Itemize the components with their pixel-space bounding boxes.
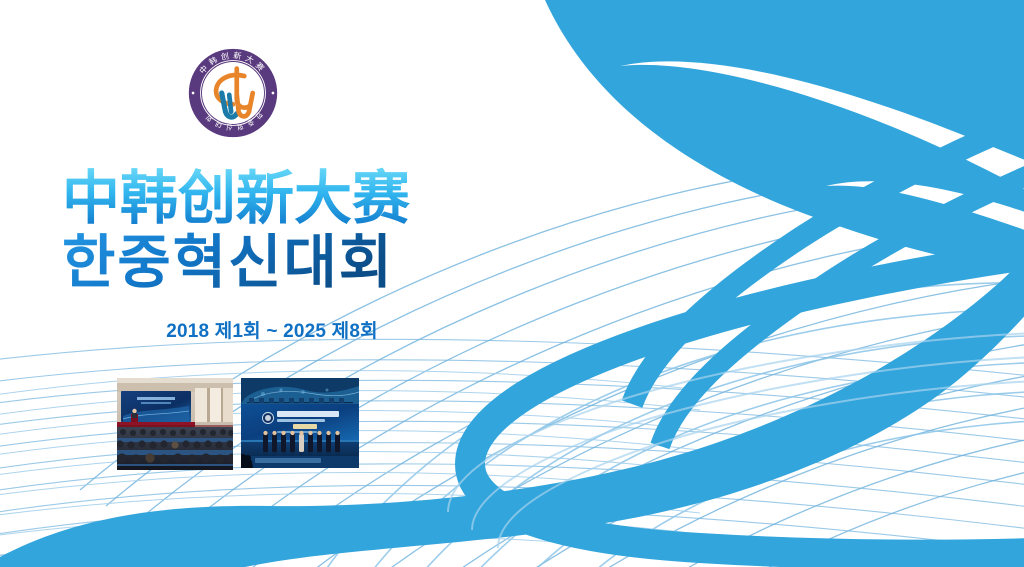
title-slide: 中韩创新大赛 한중혁신대회 中韩创 — [0, 0, 1024, 567]
organization-logo: 中韩创新大赛 한중혁신대회 — [186, 46, 280, 140]
title-chinese: 中韩创新大赛 — [62, 166, 482, 228]
photo-ceremony — [241, 378, 359, 468]
photo-conference — [117, 378, 233, 470]
title-korean: 한중혁신대회 — [62, 228, 482, 294]
title-korean-text: 한중혁신대회 — [62, 228, 394, 294]
edition-range-subtitle: 2018 제1회 ~ 2025 제8회 — [62, 316, 482, 343]
title-chinese-text: 中韩创新大赛 — [62, 166, 411, 228]
photo-strip — [117, 378, 359, 470]
